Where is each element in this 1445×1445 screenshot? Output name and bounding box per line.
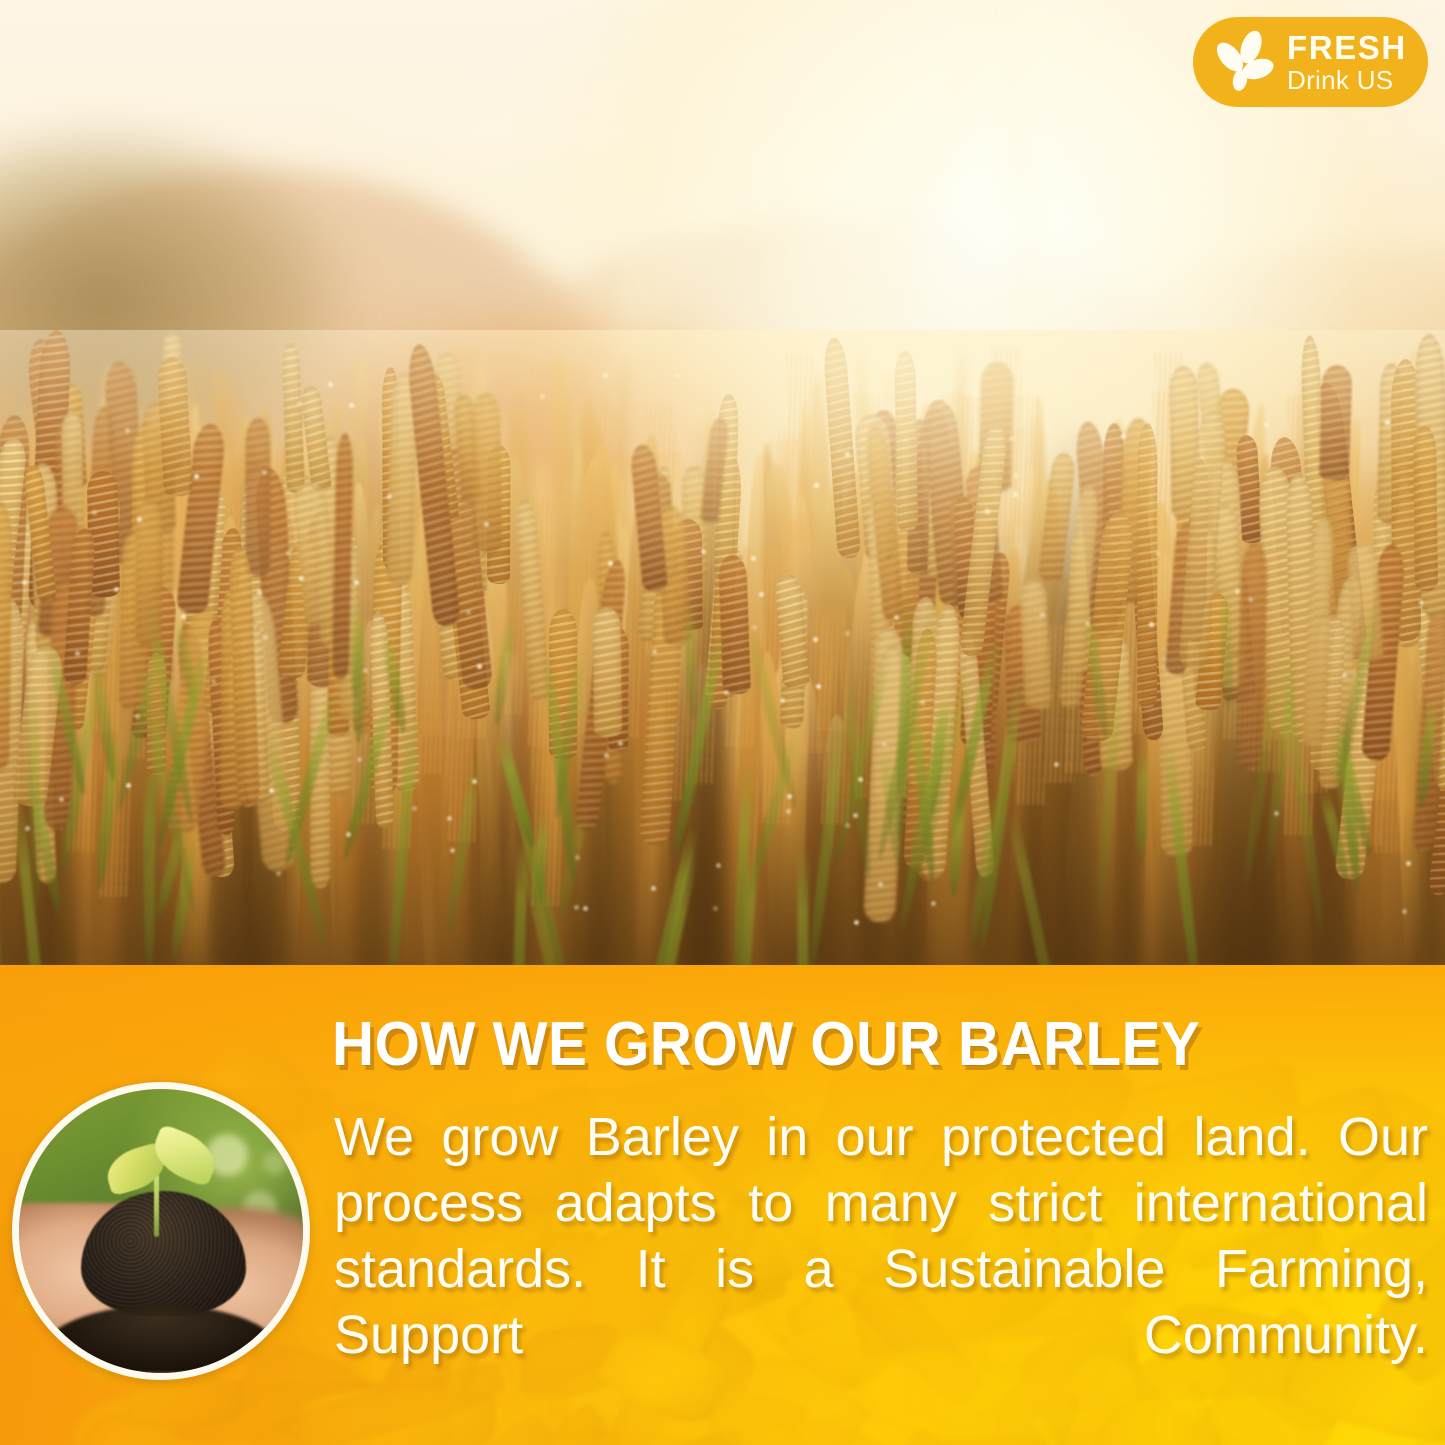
body-paragraph: We grow Barley in our protected land. Ou… — [334, 1105, 1428, 1434]
four-leaf-cluster-icon — [1207, 25, 1281, 99]
brand-tagline: Drink US — [1287, 67, 1407, 93]
product-infographic: FRESH Drink US HOW WE GROW OUR BARLEY We… — [0, 0, 1445, 1445]
wheat-heads — [0, 330, 1445, 965]
brand-logo-text: FRESH Drink US — [1287, 31, 1407, 93]
seedling-photo-inner — [19, 1089, 303, 1373]
brand-name: FRESH — [1287, 31, 1407, 64]
seedling-in-hands-photo — [12, 1082, 310, 1380]
hero-wheat-field-photo — [0, 0, 1445, 965]
brand-logo[interactable]: FRESH Drink US — [1193, 17, 1428, 107]
seedling-stem — [154, 1174, 159, 1236]
page-title: HOW WE GROW OUR BARLEY — [332, 1012, 1364, 1077]
